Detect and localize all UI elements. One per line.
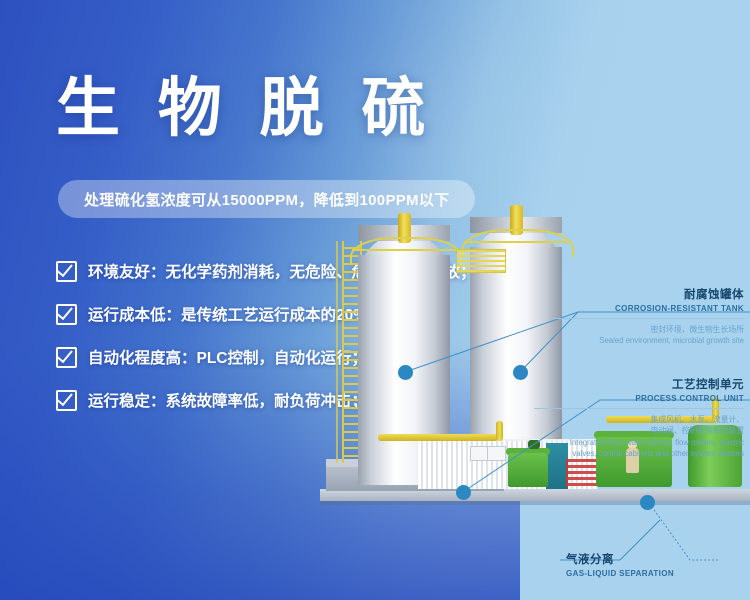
marker-dot-separator[interactable]	[640, 495, 655, 510]
callout-corrosion-resistant-tank: 耐腐蚀罐体 CORROSION-RESISTANT TANK 密封环境，微生物生…	[548, 286, 744, 347]
ladder-cage	[336, 241, 338, 463]
callout-gas-liquid-separation: 气液分离 GAS-LIQUID SEPARATION	[566, 551, 716, 578]
callout-desc-en: Integrated fans, water pumps, flow meter…	[534, 437, 744, 448]
callout-desc-cn-2: 电动阀、控制柜等系统装置	[534, 425, 744, 436]
callout-title-cn: 工艺控制单元	[534, 376, 744, 392]
callout-title-en: CORROSION-RESISTANT TANK	[548, 304, 744, 313]
callout-title-en: GAS-LIQUID SEPARATION	[566, 569, 716, 578]
marker-dot-tank-left[interactable]	[398, 365, 413, 380]
checkbox-checked-icon	[56, 261, 77, 282]
subtitle-text: 处理硫化氢浓度可从15000PPM，降低到100PPM以下	[84, 189, 449, 210]
callout-desc-cn: 密封环境，微生物生长场所	[548, 324, 744, 335]
callout-process-control-unit: 工艺控制单元 PROCESS CONTROL UNIT 集成风机、水泵、流量计、…	[534, 376, 744, 459]
access-stairs	[566, 459, 598, 487]
callout-desc-en: Sealed environment, microbial growth sit…	[548, 335, 744, 346]
catwalk	[456, 249, 506, 273]
platform-railing-rail	[464, 241, 568, 243]
callout-divider	[548, 318, 744, 319]
marker-dot-tank-right[interactable]	[513, 365, 528, 380]
callout-desc-cn: 集成风机、水泵、流量计、	[534, 414, 744, 425]
page-title: 生 物 脱 硫	[56, 76, 435, 140]
callout-title-en: PROCESS CONTROL UNIT	[534, 394, 744, 403]
checkbox-checked-icon	[56, 347, 77, 368]
callout-title-cn: 气液分离	[566, 551, 716, 567]
checkbox-checked-icon	[56, 304, 77, 325]
callout-title-cn: 耐腐蚀罐体	[548, 286, 744, 302]
platform-railing	[350, 237, 462, 265]
callout-divider	[534, 408, 744, 409]
process-pipe	[496, 421, 503, 441]
process-pipe	[378, 434, 498, 441]
subtitle-pill: 处理硫化氢浓度可从15000PPM，降低到100PPM以下	[58, 180, 475, 218]
promo-banner: 生 物 脱 硫 处理硫化氢浓度可从15000PPM，降低到100PPM以下 环境…	[0, 0, 750, 600]
marker-dot-control-unit[interactable]	[456, 485, 471, 500]
checkbox-checked-icon	[56, 390, 77, 411]
platform-railing-rail	[352, 249, 456, 251]
building-window	[470, 446, 506, 461]
callout-desc-en-2: valves, control cabinets and other syste…	[534, 448, 744, 459]
